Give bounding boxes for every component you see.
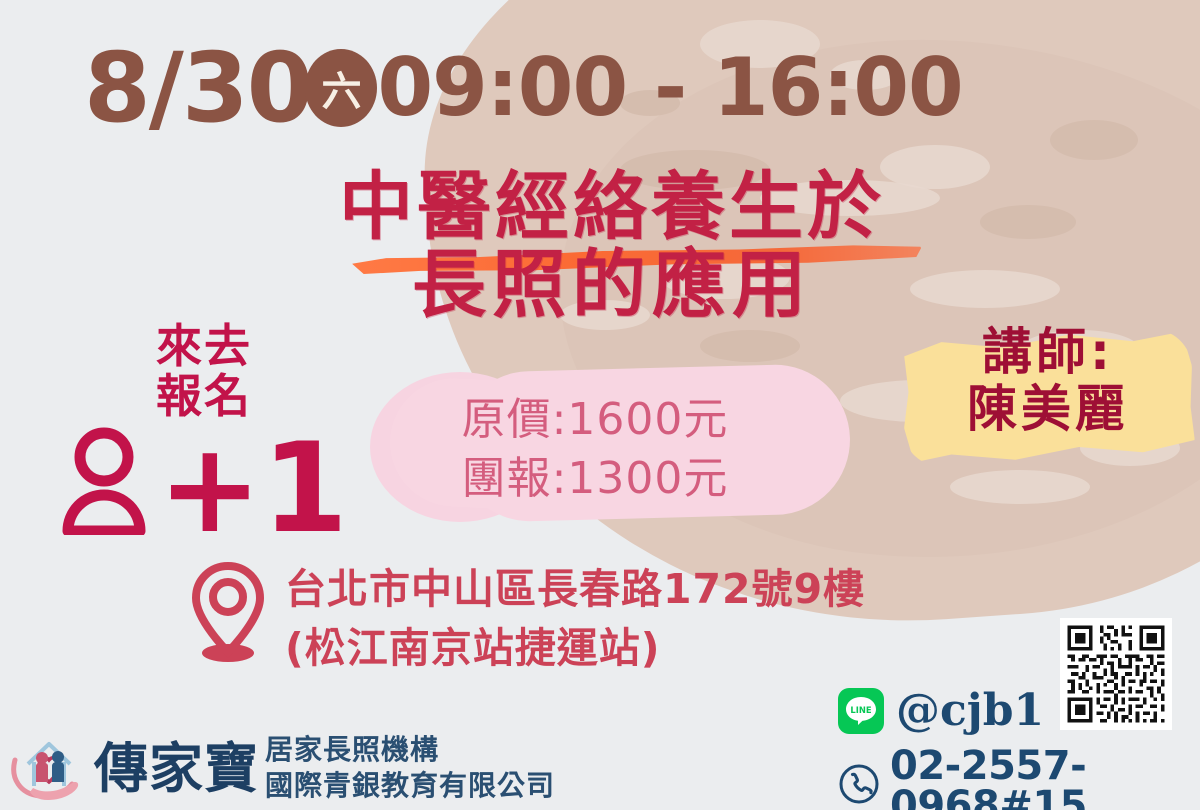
promotional-poster: 8/30 六 09:00 - 16:00 中醫經絡養生於 長照的應用 來去 報名… (0, 0, 1200, 810)
texture-speck (1050, 120, 1138, 160)
signup-text-line-2: 報名 (104, 372, 304, 422)
speaker-name: 陳美麗 (915, 381, 1181, 438)
plus-one-label: +1 (158, 439, 348, 541)
home-care-heart-icon (8, 726, 90, 809)
signup-icon-row: +1 (104, 427, 304, 540)
line-app-icon: LINE (838, 688, 884, 734)
venue-text: 台北市中山區長春路172號9樓 (松江南京站捷運站) (285, 556, 865, 678)
venue-station: (松江南京站捷運站) (285, 619, 865, 678)
line-icon-label: LINE (850, 705, 871, 715)
price-box: 原價:1600元 團報:1300元 (430, 390, 760, 509)
texture-speck (980, 205, 1076, 239)
qr-code-image (1064, 622, 1168, 726)
weekday-badge: 六 (305, 49, 377, 127)
qr-code[interactable] (1060, 618, 1172, 730)
phone-contact-row[interactable]: 02-2557-0968#15 (838, 746, 1200, 810)
group-price: 團報:1300元 (430, 449, 760, 508)
venue-block: 台北市中山區長春路172號9樓 (松江南京站捷運站) (185, 556, 865, 678)
logo-subtitle: 居家長照機構 國際青銀教育有限公司 (265, 732, 555, 804)
logo-subtitle-line-1: 居家長照機構 (265, 732, 555, 768)
line-id: @cjb1 (896, 689, 1044, 733)
person-icon (60, 427, 164, 540)
phone-number: 02-2557-0968#15 (890, 746, 1200, 810)
logo-subtitle-line-2: 國際青銀教育有限公司 (265, 768, 555, 804)
texture-speck (700, 330, 800, 362)
venue-address: 台北市中山區長春路172號9樓 (285, 560, 865, 619)
course-title-line-1: 中醫經絡養生於 (262, 168, 962, 246)
phone-icon (838, 763, 880, 810)
company-logo: 傳家寶 居家長照機構 國際青銀教育有限公司 (8, 726, 555, 809)
signup-callout[interactable]: 來去 報名 +1 (104, 322, 304, 540)
texture-speck (950, 470, 1090, 504)
speaker-block: 講師: 陳美麗 (915, 324, 1181, 438)
event-time-range: 09:00 - 16:00 (377, 48, 962, 128)
signup-text-line-1: 來去 (104, 322, 304, 372)
event-date: 8/30 (84, 40, 311, 136)
speaker-label: 講師: (915, 324, 1181, 381)
event-datetime-row: 8/30 六 09:00 - 16:00 (84, 40, 963, 136)
course-title: 中醫經絡養生於 長照的應用 (262, 168, 962, 325)
original-price: 原價:1600元 (430, 390, 760, 449)
logo-company-name: 傳家寶 (94, 741, 259, 795)
location-pin-icon (185, 560, 271, 669)
course-title-line-2: 長照的應用 (262, 246, 962, 324)
